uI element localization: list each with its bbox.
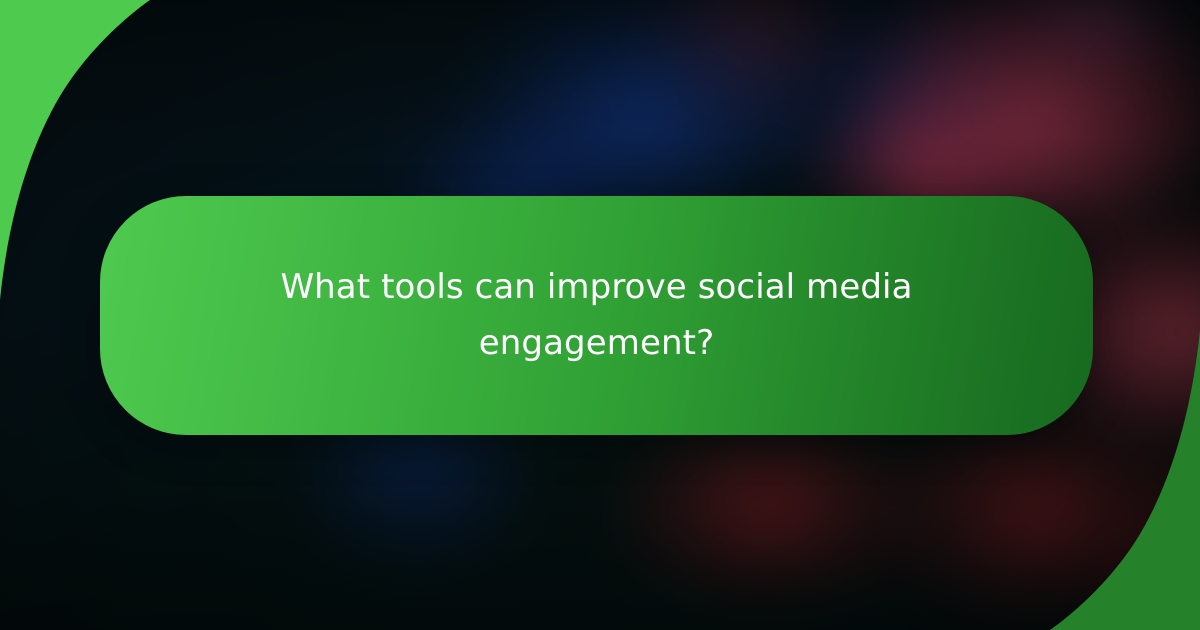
question-card[interactable]: What tools can improve social media enga… — [100, 196, 1093, 435]
social-share-card-canvas: What tools can improve social media enga… — [0, 0, 1200, 630]
question-text: What tools can improve social media enga… — [277, 260, 917, 370]
